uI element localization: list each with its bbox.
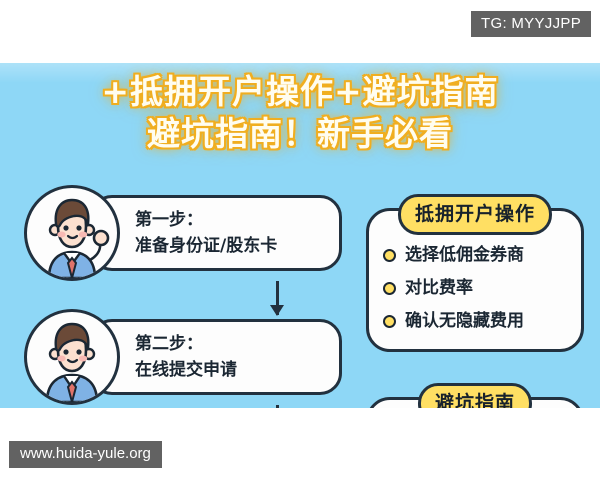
poster-headline: +抵拥开户操作+避坑指南 避坑指南！新手必看	[0, 71, 600, 155]
flow-step: 第二步： 在线提交申请	[24, 309, 344, 405]
step-card: 第一步： 准备身份证/股东卡	[90, 195, 342, 271]
bullet-label: 对比费率	[405, 276, 473, 300]
panel-badge: 抵拥开户操作	[398, 194, 552, 235]
site-watermark: www.huida-yule.org	[9, 441, 162, 468]
bullet-circle-icon	[383, 249, 396, 262]
info-panel-secondary: 避坑指南	[366, 380, 584, 408]
bullet-list: 选择低佣金券商 对比费率 确认无隐藏费用	[383, 243, 569, 333]
list-item: 确认无隐藏费用	[383, 309, 569, 333]
step-description: 在线提交申请	[135, 357, 339, 383]
bullet-label: 确认无隐藏费用	[405, 309, 524, 333]
businessman-raised-fist-avatar-icon	[24, 185, 120, 281]
step-description: 准备身份证/股东卡	[135, 233, 339, 259]
headline-line-1: +抵拥开户操作+避坑指南	[0, 71, 600, 113]
poster-canvas: +抵拥开户操作+避坑指南 避坑指南！新手必看	[0, 63, 600, 408]
bullet-label: 选择低佣金券商	[405, 243, 524, 267]
bullet-circle-icon	[383, 282, 396, 295]
list-item: 对比费率	[383, 276, 569, 300]
info-panel-card: 避坑指南	[366, 397, 584, 408]
bullet-circle-icon	[383, 315, 396, 328]
headline-line-2: 避坑指南！新手必看	[0, 113, 600, 155]
panel-badge-label: 避坑指南	[435, 392, 515, 408]
flow-step: 第一步： 准备身份证/股东卡	[24, 185, 344, 281]
step-title: 第二步：	[135, 331, 339, 357]
step-card: 第二步： 在线提交申请	[90, 319, 342, 395]
info-panel-primary: 抵拥开户操作 选择低佣金券商 对比费率 确认无隐藏费用	[366, 191, 584, 352]
panel-badge-label: 抵拥开户操作	[415, 203, 535, 225]
step-title: 第一步：	[135, 207, 339, 233]
info-panel-card: 抵拥开户操作 选择低佣金券商 对比费率 确认无隐藏费用	[366, 208, 584, 352]
panel-badge: 避坑指南	[418, 383, 532, 408]
businessman-avatar-icon	[24, 309, 120, 405]
steps-flow: 第一步： 准备身份证/股东卡	[24, 185, 344, 405]
telegram-handle-badge: TG: MYYJJPP	[471, 11, 591, 37]
list-item: 选择低佣金券商	[383, 243, 569, 267]
